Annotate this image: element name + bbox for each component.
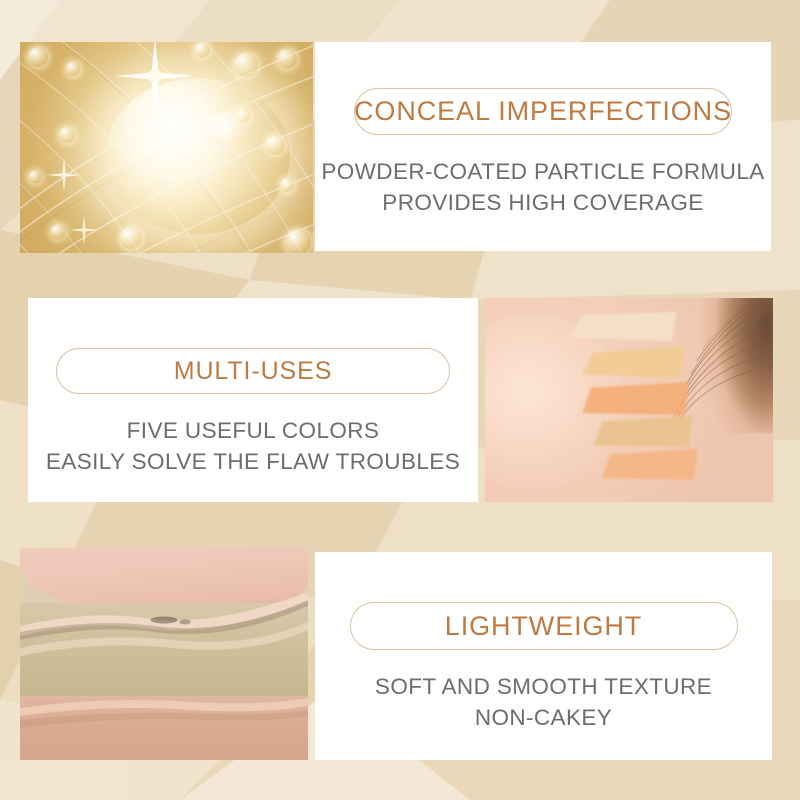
panel-lightweight: LIGHTWEIGHT SOFT AND SMOOTH TEXTURE NON-…	[315, 552, 772, 760]
gold-bubble	[28, 171, 41, 184]
concealer-swatch	[580, 345, 689, 382]
panel-heading-text: LIGHTWEIGHT	[445, 613, 642, 640]
gold-bubble	[51, 224, 66, 239]
panel-body-text: POWDER-COATED PARTICLE FORMULA PROVIDES …	[321, 157, 764, 218]
panel-heading-pill-lightweight: LIGHTWEIGHT	[350, 602, 738, 650]
panel-conceal-imperfections: CONCEAL IMPERFECTIONS POWDER-COATED PART…	[315, 42, 771, 251]
panel-heading-pill-conceal: CONCEAL IMPERFECTIONS	[354, 88, 732, 135]
concealer-swatch	[600, 447, 701, 484]
gold-bubble	[234, 53, 258, 77]
golden-pearl-sphere-photo	[20, 42, 313, 253]
gold-bubble	[277, 49, 297, 69]
panel-heading-pill-multi-uses: MULTI-USES	[56, 348, 450, 394]
panel-body-text: SOFT AND SMOOTH TEXTURE NON-CAKEY	[375, 672, 712, 733]
gold-bubble	[194, 42, 210, 58]
panel-multi-uses: MULTI-USES FIVE USEFUL COLORS EASILY SOL…	[28, 298, 478, 502]
product-feature-banner: CONCEAL IMPERFECTIONS POWDER-COATED PART…	[0, 0, 800, 800]
cream-texture-swatch-photo	[20, 548, 308, 760]
concealer-swatch	[580, 380, 692, 419]
gold-bubble	[120, 227, 142, 249]
gold-bubble	[236, 109, 250, 123]
gold-bubble	[59, 127, 75, 143]
concealer-swatches-on-skin-photo	[485, 298, 773, 502]
concealer-swatch	[592, 414, 696, 451]
gold-bubble	[265, 135, 285, 155]
panel-body-text: FIVE USEFUL COLORS EASILY SOLVE THE FLAW…	[46, 416, 460, 477]
gold-bubble	[66, 62, 80, 76]
gold-bubble	[280, 178, 294, 192]
panel-heading-text: CONCEAL IMPERFECTIONS	[354, 98, 732, 125]
cream-texture-edges	[20, 548, 308, 760]
gold-bubble	[285, 229, 311, 253]
pearl-sphere	[105, 78, 290, 234]
concealer-swatch	[566, 310, 681, 347]
gold-bubble	[28, 47, 48, 67]
panel-heading-text: MULTI-USES	[174, 359, 333, 384]
